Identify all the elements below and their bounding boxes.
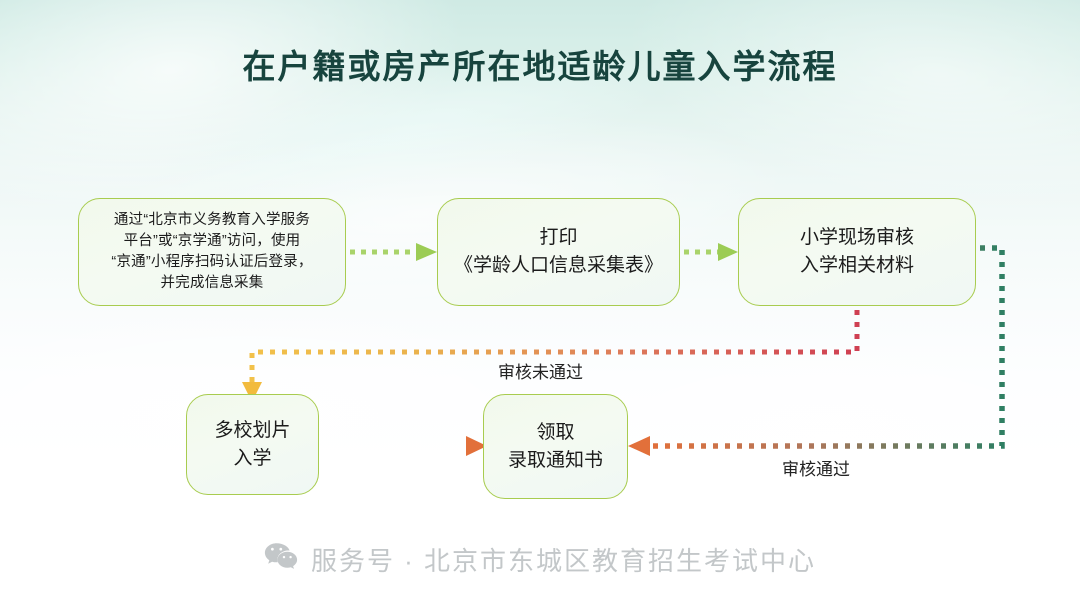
flowchart-canvas: 在户籍或房产所在地适龄儿童入学流程 bbox=[0, 0, 1080, 608]
edge-review-fail-to-multi bbox=[242, 310, 857, 402]
node-information-collection[interactable]: 通过“北京市义务教育入学服务 平台”或“京学通”访问，使用 “京通”小程序扫码认… bbox=[78, 198, 346, 306]
node-multi-text: 多校划片 入学 bbox=[214, 417, 290, 472]
footer: 服务号 · 北京市东城区教育招生考试中心 bbox=[0, 541, 1080, 578]
node-review-text: 小学现场审核 入学相关材料 bbox=[800, 224, 914, 279]
node-print-text: 打印 《学龄人口信息采集表》 bbox=[454, 224, 663, 279]
footer-text: 服务号 · 北京市东城区教育招生考试中心 bbox=[311, 541, 816, 578]
node-collect-text: 通过“北京市义务教育入学服务 平台”或“京学通”访问，使用 “京通”小程序扫码认… bbox=[102, 210, 321, 294]
edge-label-review-failed: 审核未通过 bbox=[498, 358, 583, 383]
node-receive-admission-letter[interactable]: 领取 录取通知书 bbox=[483, 394, 628, 499]
node-letter-text: 领取 录取通知书 bbox=[508, 419, 603, 474]
node-print-form[interactable]: 打印 《学龄人口信息采集表》 bbox=[437, 198, 680, 306]
node-school-onsite-review[interactable]: 小学现场审核 入学相关材料 bbox=[738, 198, 976, 306]
node-multi-school-zoning[interactable]: 多校划片 入学 bbox=[186, 394, 319, 495]
wechat-icon bbox=[264, 542, 298, 577]
edge-collect-to-print bbox=[350, 243, 437, 261]
edge-multi-to-letter bbox=[323, 436, 487, 456]
edge-label-review-passed: 审核通过 bbox=[782, 455, 850, 480]
edge-print-to-review bbox=[684, 243, 738, 261]
